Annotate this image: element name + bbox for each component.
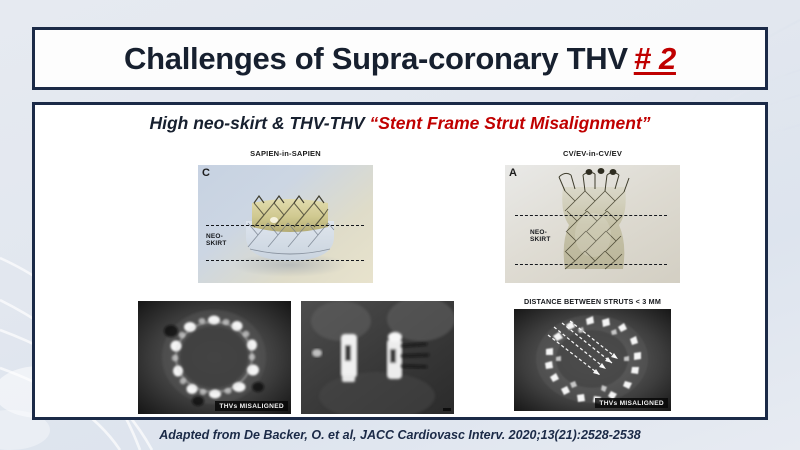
sapien-neo-skirt-line2: SKIRT	[206, 240, 227, 247]
corevalve-lower-dash-line	[515, 264, 667, 265]
subtitle-red: “Stent Frame Strut Misalignment”	[370, 113, 651, 133]
panel-letter-a: A	[509, 167, 517, 179]
corevalve-frame-illustration	[505, 165, 680, 283]
panel-letter-c: C	[202, 167, 210, 179]
ct-sagittal-badge	[443, 408, 451, 411]
ct-axial-image: THVs MISALIGNED	[138, 301, 291, 414]
sapien-neo-skirt-line1: NEO-	[206, 233, 227, 240]
sapien-lower-dash-line	[206, 260, 364, 261]
distance-panel-header: DISTANCE BETWEEN STRUTS < 3 MM	[505, 297, 680, 306]
sapien-panel-caption: SAPIEN-in-SAPIEN	[198, 149, 373, 158]
corevalve-panel-caption: CV/EV-in-CV/EV	[505, 149, 680, 158]
ct-sagittal-image	[301, 301, 454, 414]
sapien-in-sapien-photo: C	[198, 165, 373, 283]
content-box: High neo-skirt & THV-THV “Stent Frame St…	[32, 102, 768, 420]
sapien-upper-dash-line	[206, 225, 364, 226]
page-title: Challenges of Supra-coronary THV# 2	[124, 41, 676, 77]
ct-axial-rendering	[138, 301, 291, 414]
slide-canvas: Challenges of Supra-coronary THV# 2 High…	[0, 0, 800, 450]
corevalve-neo-skirt-label: NEO- SKIRT	[530, 229, 551, 244]
ct-struts-rendering	[514, 309, 671, 411]
citation-text: Adapted from De Backer, O. et al, JACC C…	[0, 428, 800, 442]
ct-struts-badge: THVs MISALIGNED	[595, 398, 668, 408]
cv-ev-in-cv-ev-photo: A	[505, 165, 680, 283]
page-title-main: Challenges of Supra-coronary THV	[124, 41, 628, 76]
corevalve-upper-dash-line	[515, 215, 667, 216]
corevalve-neo-skirt-line2: SKIRT	[530, 236, 551, 243]
sapien-neo-skirt-label: NEO- SKIRT	[206, 233, 227, 248]
page-title-number: # 2	[634, 41, 676, 76]
subtitle-black: High neo-skirt & THV-THV	[149, 113, 369, 133]
ct-axial-badge: THVs MISALIGNED	[215, 401, 288, 411]
ct-sagittal-rendering	[301, 301, 454, 414]
subtitle: High neo-skirt & THV-THV “Stent Frame St…	[35, 113, 765, 134]
sapien-valve-illustration	[198, 165, 373, 283]
distance-between-struts-panel: DISTANCE BETWEEN STRUTS < 3 MM	[505, 295, 680, 414]
title-box: Challenges of Supra-coronary THV# 2	[32, 27, 768, 90]
corevalve-neo-skirt-line1: NEO-	[530, 229, 551, 236]
ct-struts-image: THVs MISALIGNED	[514, 309, 671, 411]
